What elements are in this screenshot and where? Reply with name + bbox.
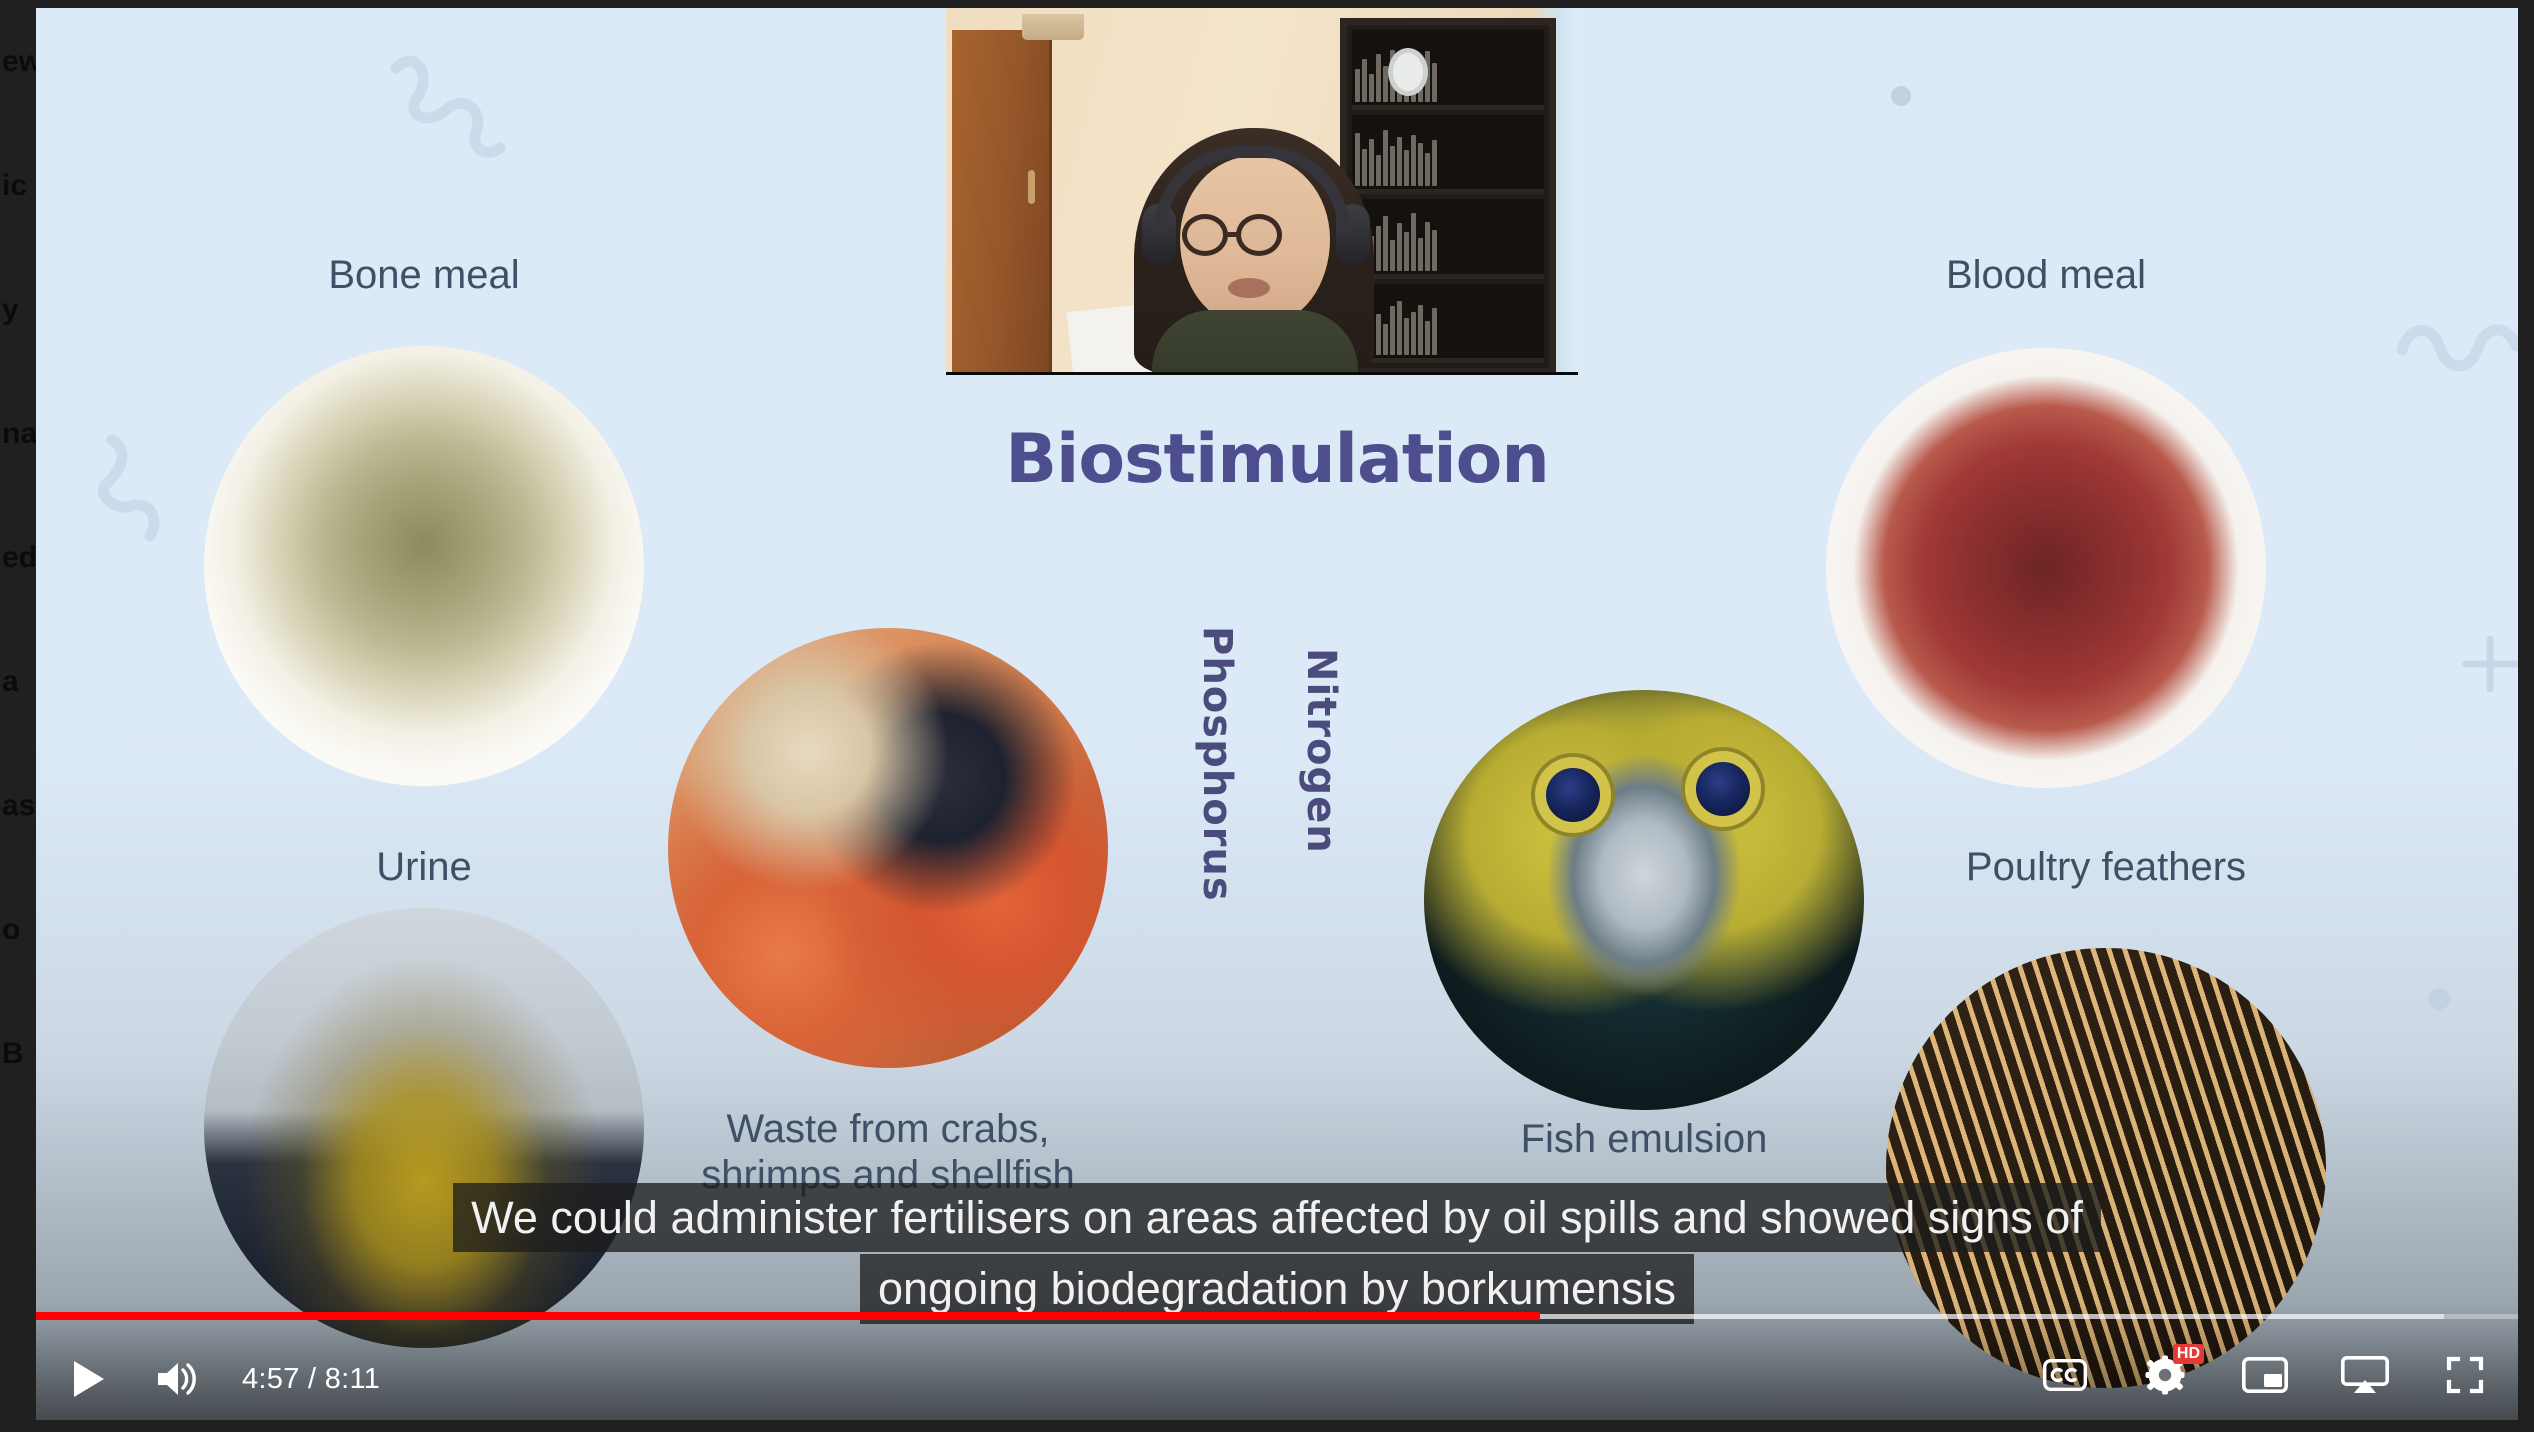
bookshelf-row — [1352, 30, 1544, 110]
webcam-plates — [1388, 48, 1428, 96]
progress-bar[interactable] — [36, 1312, 2518, 1320]
background-text-fragment: B — [2, 992, 40, 1116]
webcam-door — [952, 30, 1052, 375]
dot-decoration — [1891, 86, 1911, 106]
webcam-door-knob — [1028, 170, 1035, 204]
controls-right-group: HD — [2038, 1348, 2492, 1402]
label-fish-emulsion: Fish emulsion — [1404, 1116, 1884, 1162]
presenter-glasses-bridge — [1228, 232, 1238, 237]
subtitles-button[interactable] — [2038, 1348, 2092, 1402]
background-text-fragment: o — [2, 868, 40, 992]
time-display: 4:57 / 8:11 — [242, 1363, 380, 1396]
presenter-torso — [1152, 310, 1358, 375]
background-text-fragment: a — [2, 620, 40, 744]
miniplayer-icon — [2242, 1357, 2288, 1393]
volume-button[interactable] — [150, 1352, 204, 1406]
image-fish-emulsion — [1424, 690, 1864, 1110]
image-bone-meal — [204, 346, 644, 786]
background-text-fragment: ed — [2, 496, 40, 620]
image-urine — [204, 908, 644, 1348]
fullscreen-button[interactable] — [2438, 1348, 2492, 1402]
label-bone-meal: Bone meal — [184, 252, 664, 298]
presenter-figure — [1124, 128, 1384, 375]
image-blood-meal — [1826, 348, 2266, 788]
video-player[interactable]: Bone meal Blood meal Urine Waste from cr… — [36, 8, 2518, 1420]
background-text-fragment: y — [2, 248, 40, 372]
background-text-fragment: ic — [2, 124, 40, 248]
cast-icon — [2341, 1356, 2389, 1394]
label-blood-meal: Blood meal — [1806, 252, 2286, 298]
play-button[interactable] — [62, 1352, 116, 1406]
image-crab-waste — [668, 628, 1108, 1068]
background-page-text: ewicynaedaasoB — [0, 0, 40, 1432]
background-text-fragment: na — [2, 372, 40, 496]
label-crab-waste: Waste from crabs, shrimps and shellfish — [638, 1106, 1138, 1198]
fish-eye-left — [1546, 768, 1600, 822]
axis-label-phosphorus: Phosphorus — [1194, 626, 1240, 902]
dot-decoration — [2428, 988, 2450, 1010]
closed-captions-icon — [2043, 1359, 2087, 1391]
fish-eye-right — [1696, 762, 1750, 816]
label-urine: Urine — [184, 844, 664, 890]
settings-button[interactable]: HD — [2138, 1348, 2192, 1402]
player-controls-bar[interactable]: 4:57 / 8:11 — [36, 1302, 2518, 1420]
volume-icon — [156, 1361, 198, 1397]
presenter-webcam-overlay — [946, 8, 1578, 375]
cast-button[interactable] — [2338, 1348, 2392, 1402]
squiggle-decoration — [388, 48, 538, 168]
play-icon — [72, 1360, 106, 1398]
hd-badge: HD — [2173, 1344, 2204, 1364]
presenter-mouth — [1228, 278, 1270, 298]
webcam-vent — [1022, 14, 1084, 40]
background-text-fragment: as — [2, 744, 40, 868]
miniplayer-button[interactable] — [2238, 1348, 2292, 1402]
label-poultry-feathers: Poultry feathers — [1866, 844, 2346, 890]
plus-decoration — [2462, 636, 2518, 692]
slide-title: Biostimulation — [36, 420, 2518, 499]
squiggle-decoration — [2396, 308, 2518, 378]
axis-label-nitrogen: Nitrogen — [1298, 648, 1344, 854]
progress-played — [36, 1312, 1540, 1320]
background-text-fragment: ew — [2, 0, 40, 124]
controls-left-group: 4:57 / 8:11 — [62, 1352, 380, 1406]
fullscreen-icon — [2446, 1356, 2484, 1394]
video-frame: Bone meal Blood meal Urine Waste from cr… — [36, 8, 2518, 1420]
